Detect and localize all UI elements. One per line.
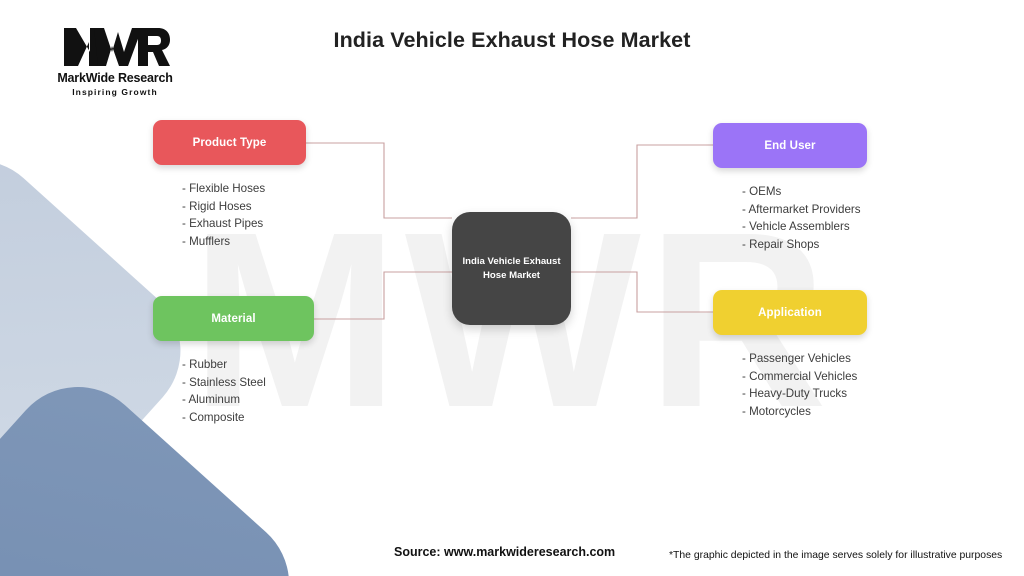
- connector-product-type: [306, 143, 452, 218]
- branch-application-items: - Passenger Vehicles - Commercial Vehicl…: [742, 350, 867, 420]
- list-item: - Passenger Vehicles: [742, 350, 867, 368]
- branch-end-user-list-wrap: - OEMs - Aftermarket Providers - Vehicle…: [713, 168, 867, 253]
- branch-product-type-list-wrap: - Flexible Hoses - Rigid Hoses - Exhaust…: [153, 165, 306, 250]
- branch-end-user-pill[interactable]: End User: [713, 123, 867, 168]
- branch-product-type-pill[interactable]: Product Type: [153, 120, 306, 165]
- branch-material-items: - Rubber - Stainless Steel - Aluminum - …: [182, 356, 314, 426]
- branch-end-user: End User - OEMs - Aftermarket Providers …: [713, 123, 867, 253]
- connector-material: [313, 272, 452, 319]
- branch-application-list-wrap: - Passenger Vehicles - Commercial Vehicl…: [713, 335, 867, 420]
- list-item: - Rubber: [182, 356, 314, 374]
- disclaimer-note: *The graphic depicted in the image serve…: [669, 550, 1002, 561]
- connector-application: [571, 272, 713, 312]
- branch-application-title: Application: [758, 307, 822, 319]
- list-item: - OEMs: [742, 183, 867, 201]
- list-item: - Heavy-Duty Trucks: [742, 385, 867, 403]
- list-item: - Composite: [182, 409, 314, 427]
- branch-material-list-wrap: - Rubber - Stainless Steel - Aluminum - …: [153, 341, 314, 426]
- branch-material-pill[interactable]: Material: [153, 296, 314, 341]
- connector-end-user: [571, 145, 713, 218]
- branch-material-title: Material: [211, 313, 255, 325]
- branch-product-type: Product Type - Flexible Hoses - Rigid Ho…: [153, 120, 306, 250]
- center-node: India Vehicle Exhaust Hose Market: [452, 212, 571, 325]
- list-item: - Repair Shops: [742, 236, 867, 254]
- branch-end-user-items: - OEMs - Aftermarket Providers - Vehicle…: [742, 183, 867, 253]
- list-item: - Vehicle Assemblers: [742, 218, 867, 236]
- branch-application-pill[interactable]: Application: [713, 290, 867, 335]
- infographic-canvas: MWR MarkWide Research Inspiring Growth I…: [0, 0, 1024, 576]
- branch-material: Material - Rubber - Stainless Steel - Al…: [153, 296, 314, 426]
- branch-application: Application - Passenger Vehicles - Comme…: [713, 290, 867, 420]
- list-item: - Flexible Hoses: [182, 180, 306, 198]
- list-item: - Aluminum: [182, 391, 314, 409]
- list-item: - Exhaust Pipes: [182, 215, 306, 233]
- center-node-label: India Vehicle Exhaust Hose Market: [454, 255, 568, 283]
- branch-product-type-items: - Flexible Hoses - Rigid Hoses - Exhaust…: [182, 180, 306, 250]
- list-item: - Mufflers: [182, 233, 306, 251]
- list-item: - Motorcycles: [742, 403, 867, 421]
- list-item: - Aftermarket Providers: [742, 201, 867, 219]
- branch-end-user-title: End User: [764, 140, 815, 152]
- list-item: - Stainless Steel: [182, 374, 314, 392]
- list-item: - Rigid Hoses: [182, 198, 306, 216]
- branch-product-type-title: Product Type: [193, 137, 267, 149]
- list-item: - Commercial Vehicles: [742, 368, 867, 386]
- source-note: Source: www.markwideresearch.com: [394, 545, 615, 559]
